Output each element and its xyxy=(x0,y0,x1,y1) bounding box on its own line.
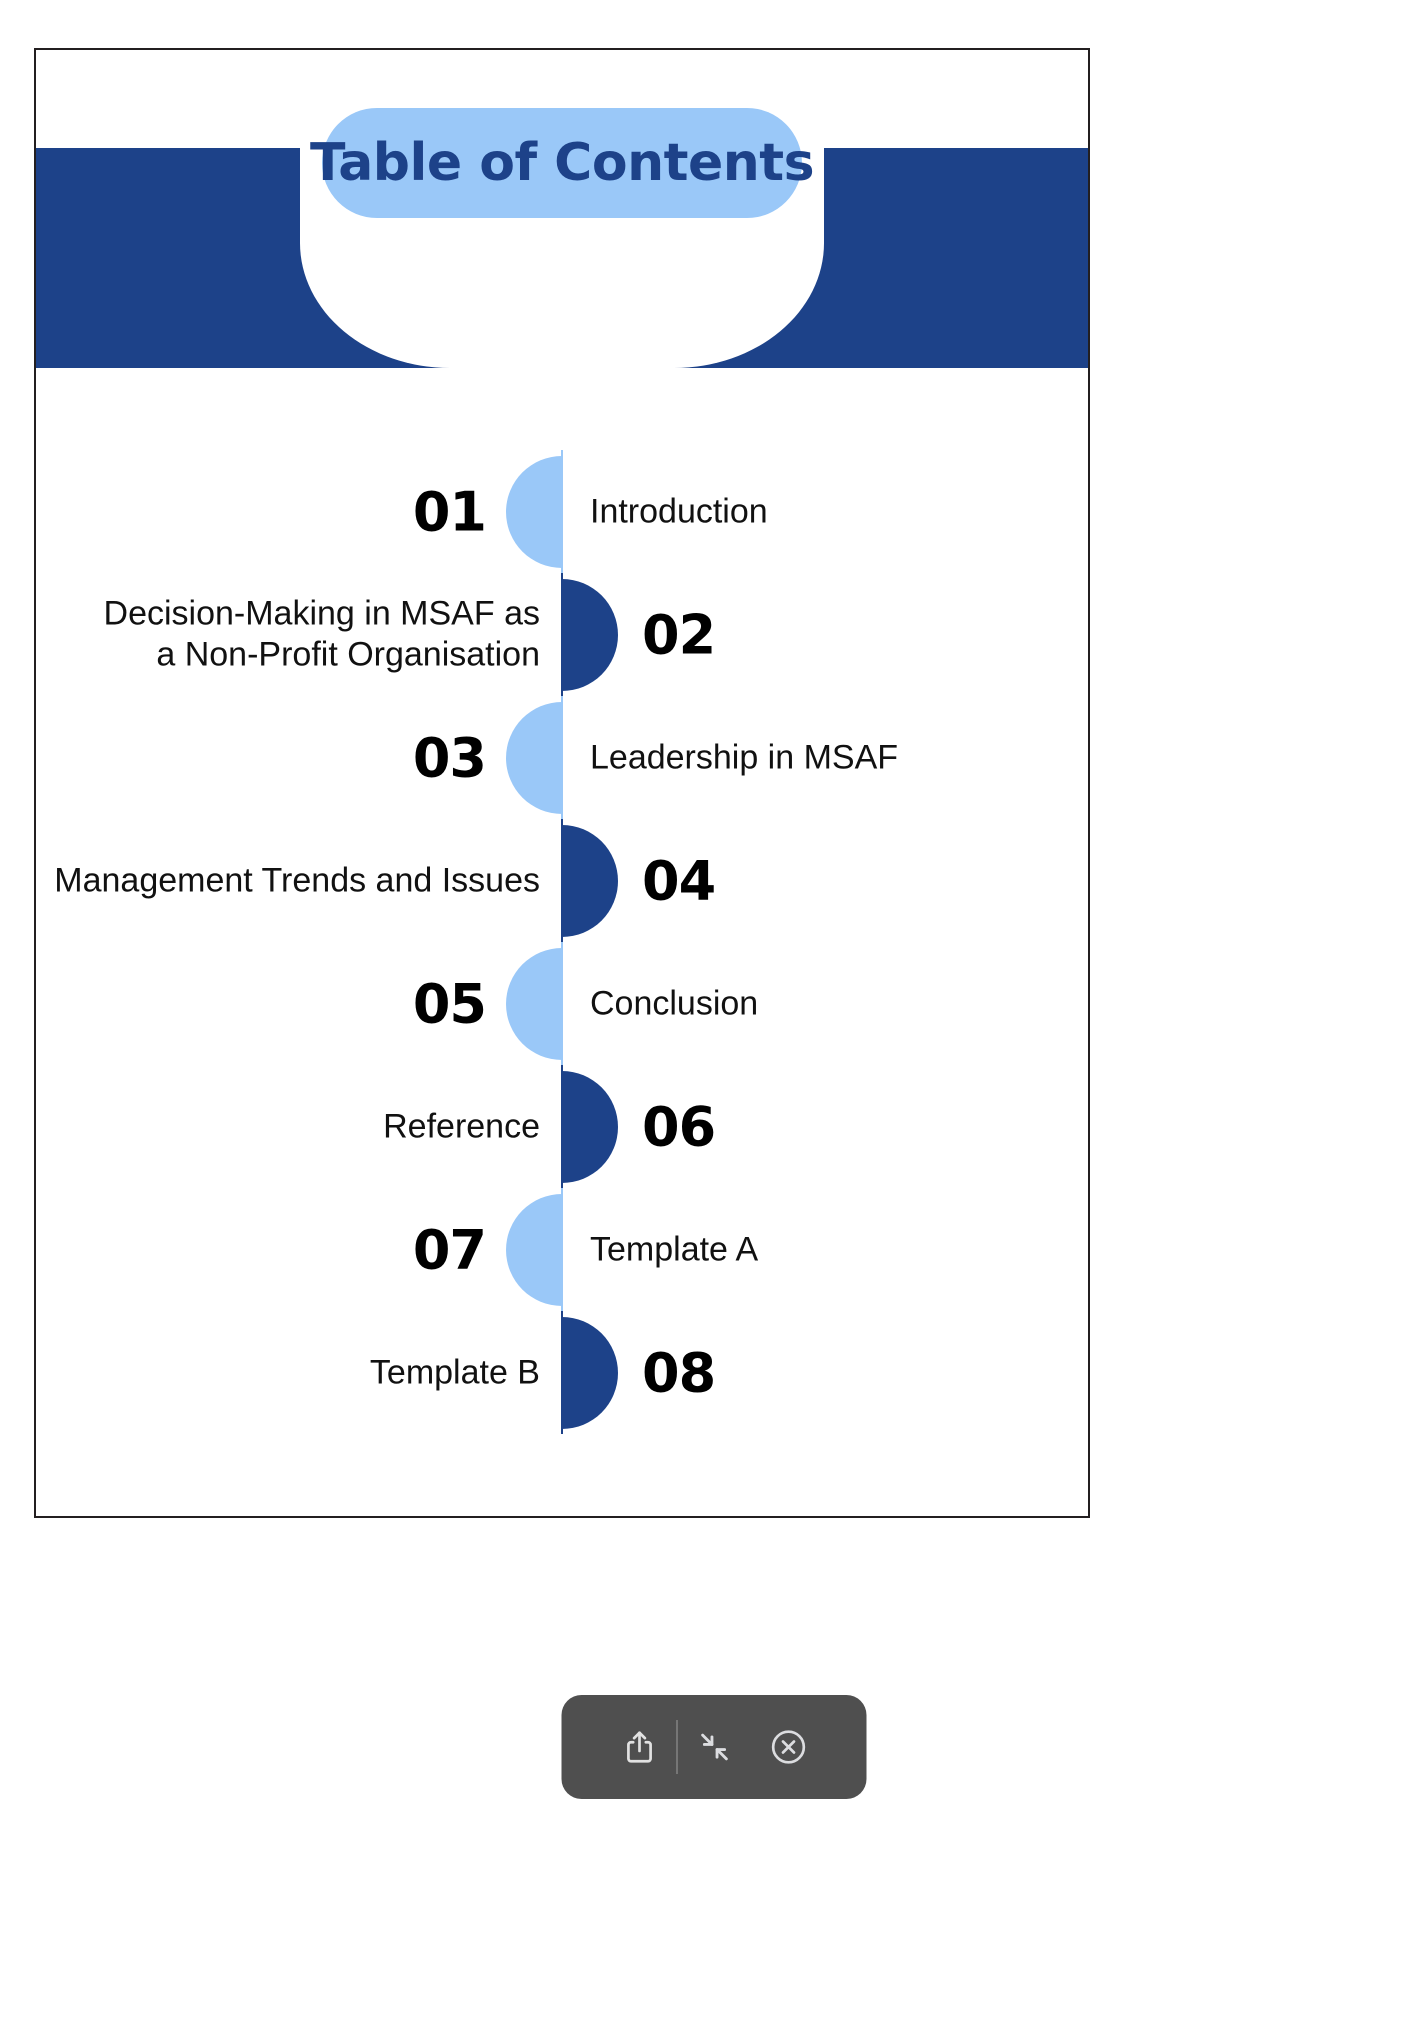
toc-row[interactable]: 02Decision-Making in MSAF as a Non-Profi… xyxy=(36,573,1088,696)
toc-marker-halfcircle xyxy=(506,702,562,814)
toc-marker-halfcircle xyxy=(506,948,562,1060)
toc-item-label: Introduction xyxy=(590,491,768,532)
close-icon xyxy=(769,1727,809,1767)
toc-row[interactable]: 08Template B xyxy=(36,1311,1088,1434)
toc-item-label: Template A xyxy=(590,1229,758,1270)
toc-row[interactable]: 05Conclusion xyxy=(36,942,1088,1065)
toc-row[interactable]: 06Reference xyxy=(36,1065,1088,1188)
minimize-icon xyxy=(696,1728,734,1766)
toc-item-label: Management Trends and Issues xyxy=(54,860,540,901)
toc-row[interactable]: 01Introduction xyxy=(36,450,1088,573)
close-button[interactable] xyxy=(752,1695,826,1799)
toc-item-number: 05 xyxy=(413,972,486,1035)
screenshot-root: Table of Contents 01Introduction02Decisi… xyxy=(0,0,1428,2028)
toc-item-label: Decision-Making in MSAF as a Non-Profit … xyxy=(104,593,540,676)
toc-item-number: 08 xyxy=(642,1341,715,1404)
toc-item-label: Leadership in MSAF xyxy=(590,737,898,778)
toc-item-number: 07 xyxy=(413,1218,486,1281)
share-button[interactable] xyxy=(603,1695,677,1799)
toc-item-label: Conclusion xyxy=(590,983,758,1024)
toc-item-number: 02 xyxy=(642,603,715,666)
toc-row[interactable]: 04Management Trends and Issues xyxy=(36,819,1088,942)
floating-toolbar xyxy=(562,1695,867,1799)
toc-row[interactable]: 07Template A xyxy=(36,1188,1088,1311)
toc-marker-halfcircle xyxy=(562,1317,618,1429)
header-title-pill: Table of Contents xyxy=(322,108,802,218)
toc-item-number: 04 xyxy=(642,849,715,912)
toc-row[interactable]: 03Leadership in MSAF xyxy=(36,696,1088,819)
toc-list: 01Introduction02Decision-Making in MSAF … xyxy=(36,450,1088,1480)
toc-marker-halfcircle xyxy=(506,1194,562,1306)
toc-item-number: 06 xyxy=(642,1095,715,1158)
toc-item-label: Reference xyxy=(383,1106,540,1147)
toc-item-number: 03 xyxy=(413,726,486,789)
share-icon xyxy=(621,1727,659,1767)
toc-marker-halfcircle xyxy=(562,825,618,937)
toc-marker-halfcircle xyxy=(506,456,562,568)
minimize-button[interactable] xyxy=(678,1695,752,1799)
toc-item-number: 01 xyxy=(413,480,486,543)
toc-marker-halfcircle xyxy=(562,1071,618,1183)
page-title: Table of Contents xyxy=(310,133,814,193)
toc-item-label: Template B xyxy=(370,1352,540,1393)
toc-marker-halfcircle xyxy=(562,579,618,691)
document-page: Table of Contents 01Introduction02Decisi… xyxy=(34,48,1090,1518)
